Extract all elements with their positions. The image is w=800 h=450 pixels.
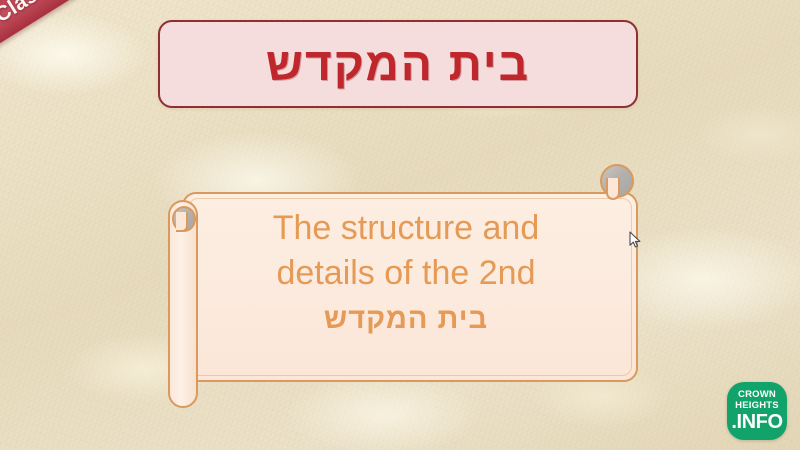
slide-title-text: בית המקדש xyxy=(266,41,530,87)
scroll-curl-left xyxy=(176,212,188,232)
scroll-curl-right xyxy=(606,178,620,200)
scroll-text-content: The structure and details of the 2nd בית… xyxy=(196,202,616,368)
scroll-line-1: The structure and xyxy=(273,206,539,251)
slide-canvas: Class #9 בית המקדש The structure and det… xyxy=(0,0,800,450)
class-ribbon-band: Class #9 xyxy=(0,0,174,94)
logo-line-info: .INFO xyxy=(731,412,782,432)
scroll-graphic: The structure and details of the 2nd בית… xyxy=(168,178,638,382)
slide-title-box: בית המקדש xyxy=(158,20,638,108)
scroll-line-3: בית המקדש xyxy=(324,300,488,339)
crownheights-info-logo: CROWN HEIGHTS .INFO xyxy=(727,382,787,440)
logo-line-heights: HEIGHTS xyxy=(735,401,779,411)
logo-line-crown: CROWN xyxy=(738,390,776,400)
scroll-line-2: details of the 2nd xyxy=(277,251,536,296)
class-ribbon-label: Class #9 xyxy=(0,0,78,28)
mouse-pointer-icon xyxy=(629,231,642,249)
